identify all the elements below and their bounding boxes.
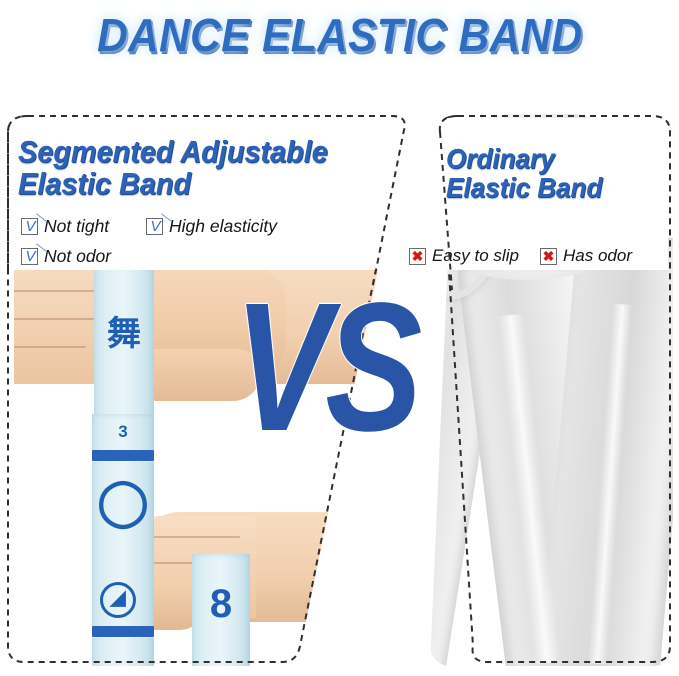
checkbox-checked-icon[interactable]: V	[21, 218, 38, 235]
band-segment-marker-8: 8	[192, 582, 250, 627]
feature-row-high-elasticity[interactable]: V High elasticity	[146, 216, 277, 237]
feature-row-has-odor[interactable]: ✖ Has odor	[540, 246, 632, 266]
check-glyph: V	[148, 218, 163, 236]
checkbox-crossed-icon[interactable]: ✖	[409, 248, 426, 265]
feature-label: Not odor	[44, 246, 111, 267]
checkbox-checked-icon[interactable]: V	[146, 218, 163, 235]
elastic-band-long-segment: 3 ◯ ◢	[92, 414, 154, 666]
elastic-band-upper-strap: 舞	[94, 264, 154, 429]
right-panel-heading: Ordinary Elastic Band	[446, 145, 660, 202]
cross-glyph: ✖	[410, 249, 425, 264]
band-logo-print: 舞	[100, 306, 148, 355]
band-segment-marker-3: 3	[92, 422, 154, 442]
feature-label: Has odor	[563, 246, 632, 266]
feature-row-not-tight[interactable]: V Not tight	[21, 216, 109, 237]
feature-label: Not tight	[44, 216, 109, 237]
checkbox-checked-icon[interactable]: V	[21, 248, 38, 265]
feature-row-not-odor[interactable]: V Not odor	[21, 246, 111, 267]
band-icon-print: ◢	[100, 582, 136, 618]
check-glyph: V	[23, 248, 38, 266]
elastic-band-second-segment: 8	[192, 554, 250, 666]
check-glyph: V	[23, 218, 38, 236]
banner-title-area: DANCE ELASTIC BAND	[0, 4, 679, 66]
checkbox-crossed-icon[interactable]: ✖	[540, 248, 557, 265]
page-title: DANCE ELASTIC BAND	[97, 8, 583, 62]
feature-row-easy-to-slip[interactable]: ✖ Easy to slip	[409, 246, 519, 266]
band-shape-print: ◯	[96, 478, 150, 524]
cross-glyph: ✖	[541, 249, 556, 264]
left-panel-heading: Segmented Adjustable Elastic Band	[18, 136, 353, 199]
feature-label: Easy to slip	[432, 246, 519, 266]
product-comparison-image: DANCE ELASTIC BAND 舞	[0, 0, 679, 676]
feature-label: High elasticity	[169, 216, 277, 237]
